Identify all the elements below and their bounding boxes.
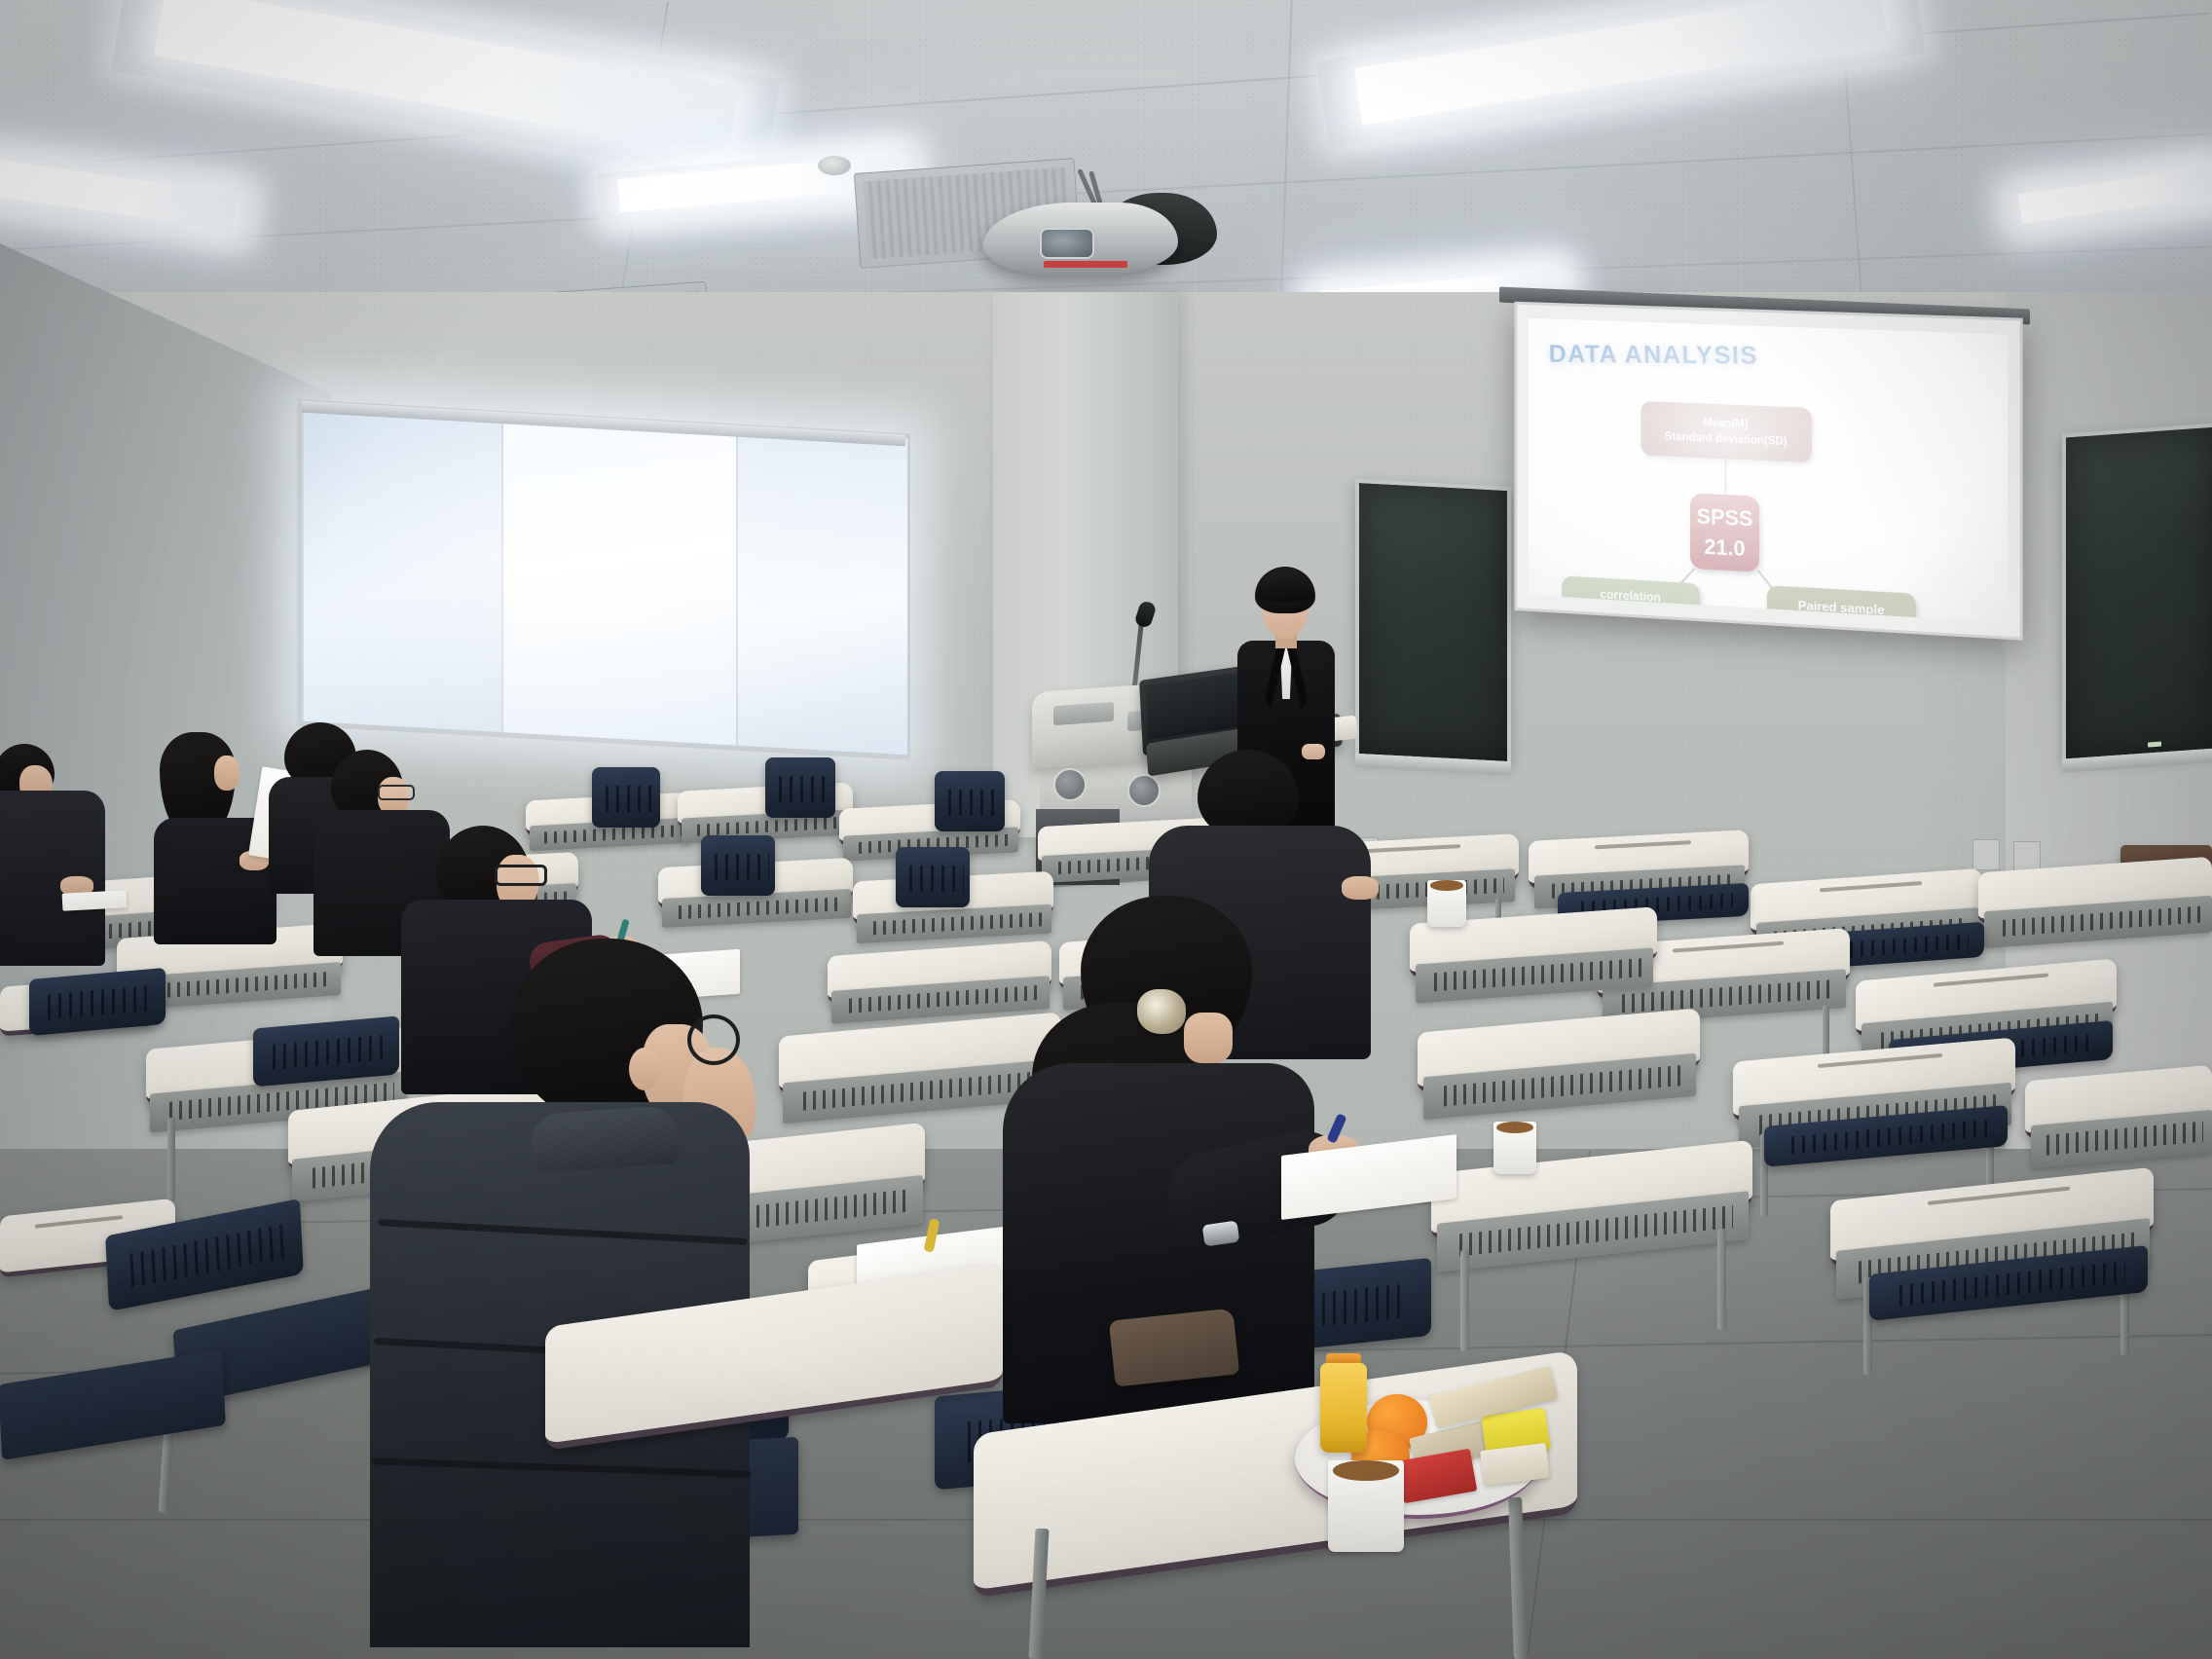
chair[interactable] [29, 968, 166, 1036]
neck [1184, 1013, 1233, 1063]
podium-speaker-icon [1053, 768, 1087, 801]
chair[interactable] [896, 847, 970, 907]
slide-title: DATA ANALYSIS [1548, 339, 1758, 371]
eyeglasses-icon [378, 785, 415, 800]
eyeglasses-icon [495, 865, 547, 886]
roller-blind-panel[interactable] [501, 416, 739, 746]
classroom-photo: DATA ANALYSIS Mean(M) Standard deviation… [0, 0, 2212, 1659]
attendee-far-left [0, 744, 105, 958]
ceiling-light [1316, 0, 1926, 148]
pencil-case[interactable] [1109, 1308, 1239, 1386]
ceiling-projector [983, 177, 1217, 292]
projection-screen: DATA ANALYSIS Mean(M) Standard deviation… [1514, 302, 2022, 641]
vest-collar [530, 1105, 680, 1173]
connector-line [1724, 459, 1725, 496]
desk-leg [1460, 1250, 1469, 1351]
attendee-puffer-vest [426, 939, 777, 1659]
smoke-detector-icon [818, 156, 851, 175]
window-with-blinds [297, 399, 910, 759]
notepad[interactable] [62, 890, 128, 910]
eyeglasses-icon [687, 1014, 740, 1065]
slide-node-ttest: Paired sample T-test [1767, 585, 1916, 622]
desk-leg [167, 1118, 175, 1201]
ear [629, 1048, 660, 1090]
roller-blind-panel[interactable] [302, 405, 503, 733]
slide-node-measures: Mean(M) Standard deviation(SD) [1641, 401, 1812, 462]
face [214, 756, 240, 791]
chair[interactable] [592, 767, 660, 828]
slide-node-line: Mean(M) [1703, 415, 1748, 432]
slide-node-line: T-test [1825, 616, 1859, 623]
paper-cup[interactable] [1427, 880, 1466, 927]
chair[interactable] [935, 771, 1005, 831]
projector-brand-strip [1044, 261, 1127, 268]
ceiling-light [0, 147, 256, 243]
paper-cup[interactable] [1493, 1122, 1536, 1174]
ceiling-light [2004, 158, 2212, 236]
chalk-piece[interactable] [2148, 742, 2161, 748]
slide-node-line: correlation [1600, 587, 1661, 608]
podium-speaker-icon [1127, 774, 1161, 807]
hand [1342, 876, 1379, 900]
juice-bottle[interactable] [1320, 1363, 1367, 1453]
slide-node-line: Paired sample [1798, 597, 1885, 620]
attendee-long-hair [154, 732, 280, 927]
chair[interactable] [765, 757, 835, 818]
slide-node-line: 21.0 [1704, 532, 1745, 564]
chalkboard-left [1355, 479, 1511, 765]
chair[interactable] [701, 835, 775, 896]
paper-cup[interactable] [1328, 1460, 1404, 1552]
ceiling-light [111, 0, 782, 185]
slide-node-line: Standard deviation(SD) [1665, 429, 1787, 451]
projector-lens-icon [1040, 228, 1094, 259]
roller-blind-panel[interactable] [736, 429, 907, 756]
hair-clip[interactable] [1137, 989, 1186, 1034]
slide-content: DATA ANALYSIS Mean(M) Standard deviation… [1529, 318, 2009, 623]
desk-leg [1717, 1229, 1726, 1330]
chalkboard-right [2062, 423, 2212, 762]
slide-node-software: SPSS 21.0 [1690, 493, 1759, 571]
wall-outlet [1972, 839, 2000, 870]
slide-node-line: SPSS [1697, 500, 1753, 534]
